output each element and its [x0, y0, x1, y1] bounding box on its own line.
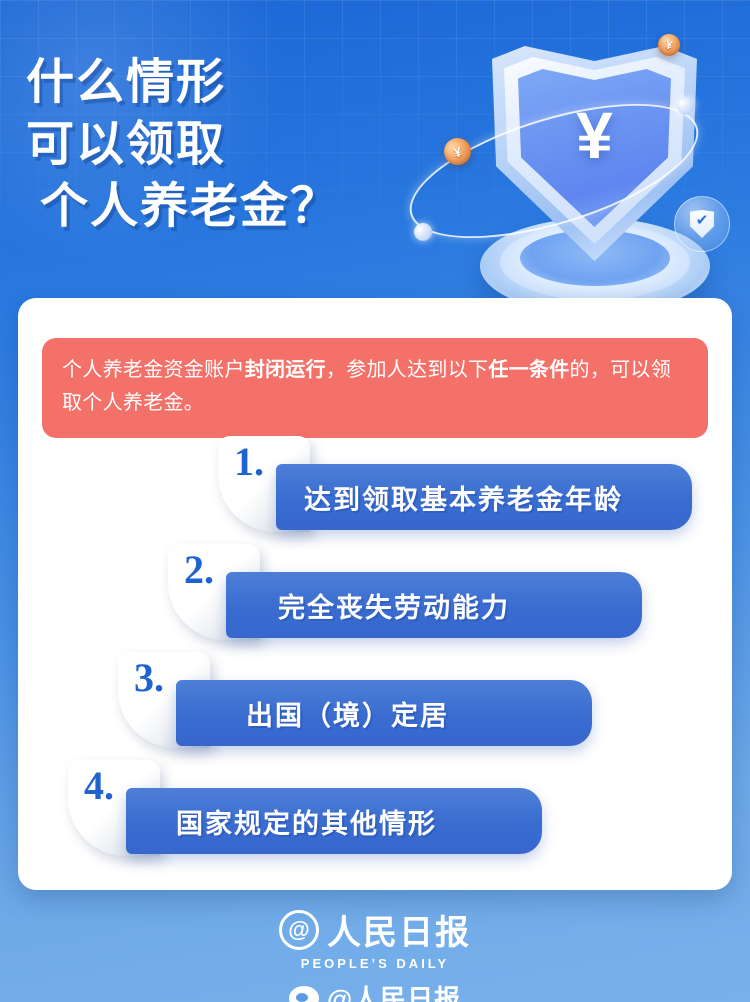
at-logo-icon: @	[279, 910, 319, 950]
notice-text-part-2: ，参加人达到以下	[326, 359, 488, 381]
page-title-line-1: 什么情形	[26, 52, 446, 114]
page-title-line-3: 个人养老金？	[26, 176, 446, 238]
page-title-line-2: 可以领取	[26, 114, 446, 176]
condition-label: 完全丧失劳动能力	[278, 586, 510, 625]
brand-name-cn: 人民日报	[327, 905, 471, 954]
footer-branding: @ 人民日报 PEOPLE’S DAILY @人民日报	[0, 905, 750, 1002]
page-title: 什么情形 可以领取 个人养老金？	[26, 52, 446, 238]
weibo-row: @人民日报	[0, 979, 750, 1002]
list-item-number: 1.	[234, 440, 264, 484]
list-item: 1. 达到领取基本养老金年龄	[18, 436, 732, 544]
condition-bar: 达到领取基本养老金年龄	[276, 464, 692, 530]
list-item: 4. 国家规定的其他情形	[18, 760, 732, 868]
check-icon: ✔	[696, 210, 709, 232]
list-item-number: 3.	[134, 656, 164, 700]
condition-label: 出国（境）定居	[246, 694, 449, 733]
condition-label: 国家规定的其他情形	[176, 802, 437, 841]
brand-row: @ 人民日报	[0, 905, 750, 954]
notice-text-bold-1: 封闭运行	[245, 359, 326, 381]
condition-list: 1. 达到领取基本养老金年龄 2. 完全丧失劳动能力 3.	[18, 436, 732, 868]
condition-bar: 出国（境）定居	[176, 680, 592, 746]
condition-label: 达到领取基本养老金年龄	[304, 478, 623, 517]
infographic-poster: 什么情形 可以领取 个人养老金？ ¥ ¥ ¥ ✔ 个人养老金资金账户封闭运行，	[0, 0, 750, 1002]
weibo-icon	[289, 986, 319, 1002]
condition-bar: 完全丧失劳动能力	[226, 572, 642, 638]
content-card: 个人养老金资金账户封闭运行，参加人达到以下任一条件的，可以领取个人养老金。 1.…	[18, 298, 732, 890]
brand-name-en: PEOPLE’S DAILY	[0, 956, 750, 971]
mini-shield-icon: ✔	[689, 210, 715, 238]
list-item: 3. 出国（境）定居	[18, 652, 732, 760]
list-item-number: 4.	[84, 764, 114, 808]
weibo-handle: @人民日报	[327, 979, 461, 1002]
verified-bubble-icon: ✔	[674, 196, 730, 252]
list-item-number: 2.	[184, 548, 214, 592]
condition-bar: 国家规定的其他情形	[126, 788, 542, 854]
shield-illustration: ¥ ¥ ¥ ✔	[432, 18, 750, 308]
notice-banner: 个人养老金资金账户封闭运行，参加人达到以下任一条件的，可以领取个人养老金。	[42, 338, 708, 438]
notice-text-bold-2: 任一条件	[488, 359, 569, 381]
notice-text-part-1: 个人养老金资金账户	[62, 359, 245, 381]
list-item: 2. 完全丧失劳动能力	[18, 544, 732, 652]
